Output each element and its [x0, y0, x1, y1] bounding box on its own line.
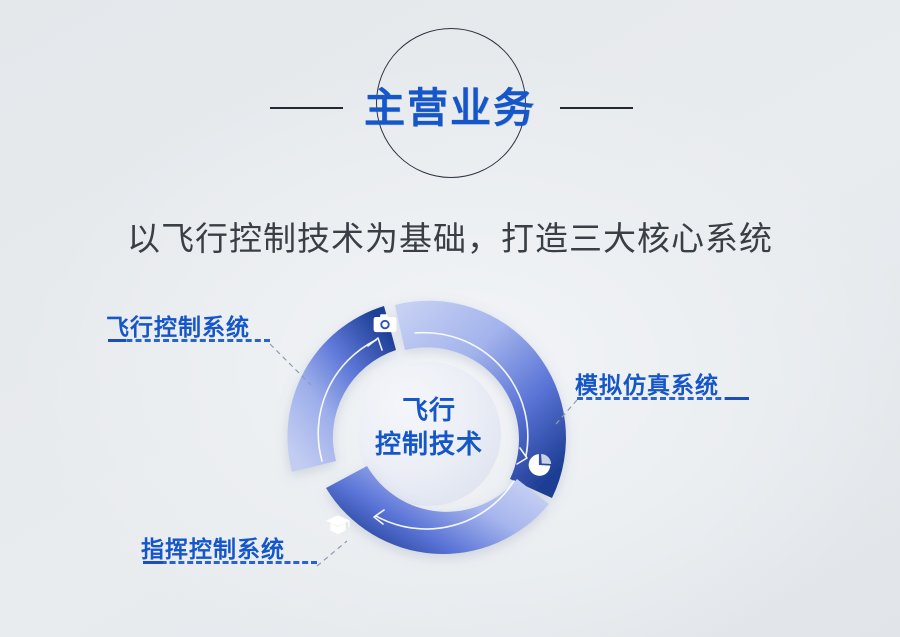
node-label-simulation[interactable]: 模拟仿真系统 — [575, 366, 719, 400]
camera-icon — [372, 311, 398, 337]
page-subtitle: 以飞行控制技术为基础，打造三大核心系统 — [0, 212, 900, 260]
graduation-cap-icon — [325, 512, 351, 538]
underline-cap — [143, 561, 163, 564]
underline-cap — [725, 397, 749, 400]
center-label-line2: 控制技术 — [349, 427, 509, 461]
node-label-underline-command-control — [143, 561, 317, 567]
node-label-command-control[interactable]: 指挥控制系统 — [141, 530, 285, 564]
page-root: 主营业务 以飞行控制技术为基础，打造三大核心系统 — [0, 0, 900, 637]
node-label-underline-flight-control — [108, 339, 270, 345]
diagram-center-label: 飞行 控制技术 — [349, 393, 509, 461]
node-label-flight-control[interactable]: 飞行控制系统 — [106, 308, 250, 342]
title-block: 主营业务 — [0, 20, 900, 185]
pie-chart-icon — [527, 452, 553, 478]
underline-cap — [108, 339, 126, 342]
node-label-underline-simulation — [577, 397, 749, 403]
center-label-line1: 飞行 — [349, 393, 509, 427]
page-title: 主营业务 — [0, 84, 900, 132]
